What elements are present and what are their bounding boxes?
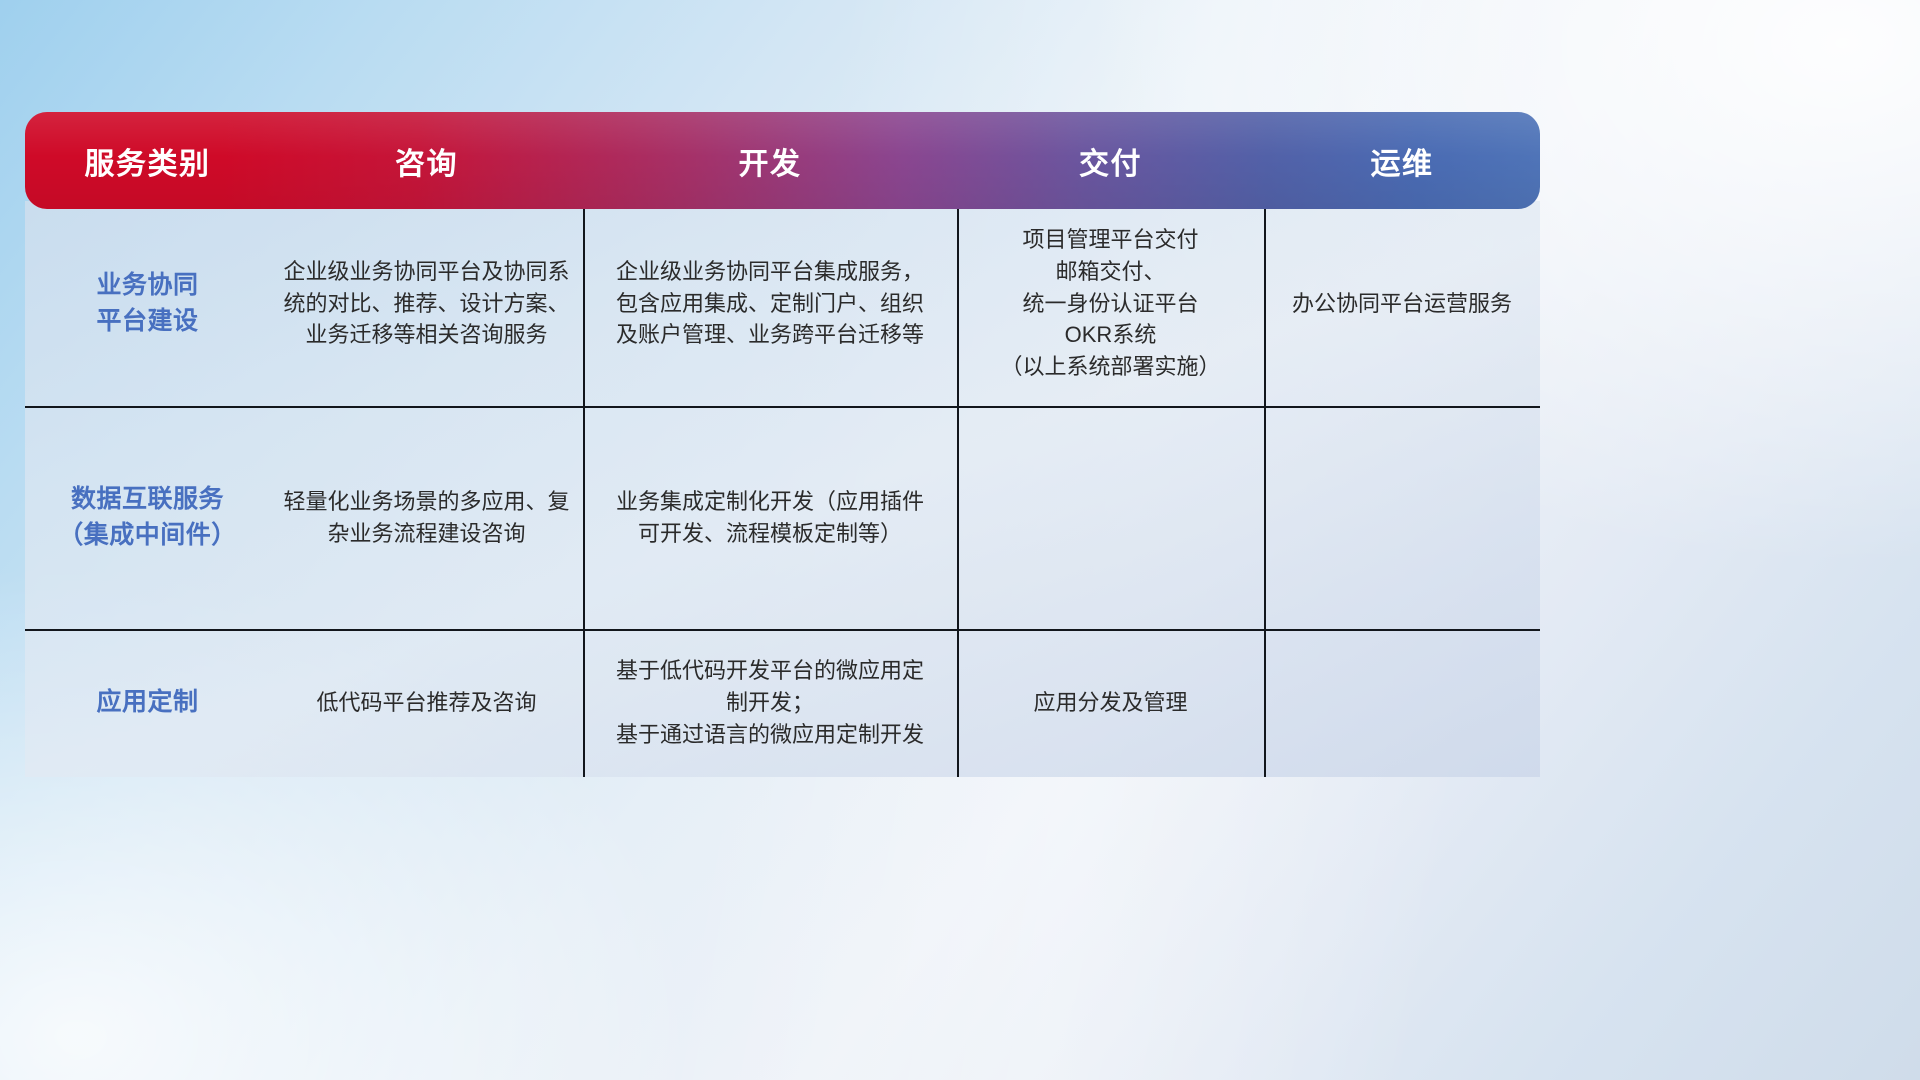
cell-text: 企业级业务协同平台集成服务， 包含应用集成、定制门户、组织 及账户管理、业务跨平…	[616, 256, 924, 352]
cell-development: 业务集成定制化开发（应用插件 可开发、流程模板定制等）	[583, 406, 957, 629]
cell-text: 低代码平台推荐及咨询	[316, 687, 536, 719]
cell-development: 基于低代码开发平台的微应用定 制开发； 基于通过语言的微应用定制开发	[583, 629, 957, 777]
table-header-cell-service-category: 服务类别	[25, 139, 270, 183]
cell-delivery	[957, 406, 1264, 629]
cell-text: 业务集成定制化开发（应用插件 可开发、流程模板定制等）	[616, 486, 924, 550]
row-label-cell: 应用定制	[25, 629, 270, 777]
cell-development: 企业级业务协同平台集成服务， 包含应用集成、定制门户、组织 及账户管理、业务跨平…	[583, 201, 957, 406]
cell-text: 基于低代码开发平台的微应用定 制开发； 基于通过语言的微应用定制开发	[616, 655, 924, 751]
table-row: 数据互联服务 （集成中间件） 轻量化业务场景的多应用、复 杂业务流程建设咨询 业…	[25, 406, 1540, 629]
row-label-text: 应用定制	[96, 685, 198, 721]
hrule-row1-row2	[25, 406, 1540, 408]
cell-delivery: 应用分发及管理	[957, 629, 1264, 777]
row-label-cell: 业务协同 平台建设	[25, 201, 270, 406]
table-header-row: 服务类别 咨询 开发 交付 运维	[25, 112, 1540, 209]
row-label-text: 数据互联服务 （集成中间件）	[58, 482, 237, 553]
hrule-row2-row3	[25, 629, 1540, 631]
cell-operations: 办公协同平台运营服务	[1264, 201, 1540, 406]
cell-text: 企业级业务协同平台及协同系 统的对比、推荐、设计方案、 业务迁移等相关咨询服务	[283, 256, 569, 352]
page-background: 服务类别 咨询 开发 交付 运维 业务协同 平台建设	[0, 0, 1920, 1080]
row-label-cell: 数据互联服务 （集成中间件）	[25, 406, 270, 629]
cell-consulting: 低代码平台推荐及咨询	[270, 629, 583, 777]
cell-text: 应用分发及管理	[1033, 687, 1187, 719]
table-header-cell-delivery: 交付	[957, 139, 1264, 183]
service-category-table: 服务类别 咨询 开发 交付 运维 业务协同 平台建设	[25, 112, 1540, 777]
cell-delivery: 项目管理平台交付 邮箱交付、 统一身份认证平台 OKR系统 （以上系统部署实施）	[957, 201, 1264, 406]
table-body: 业务协同 平台建设 企业级业务协同平台及协同系 统的对比、推荐、设计方案、 业务…	[25, 201, 1540, 777]
table-row: 业务协同 平台建设 企业级业务协同平台及协同系 统的对比、推荐、设计方案、 业务…	[25, 201, 1540, 406]
cell-text: 办公协同平台运营服务	[1292, 288, 1512, 320]
cell-operations	[1264, 406, 1540, 629]
table-header-cell-development: 开发	[583, 139, 957, 183]
cell-operations	[1264, 629, 1540, 777]
cell-consulting: 轻量化业务场景的多应用、复 杂业务流程建设咨询	[270, 406, 583, 629]
cell-consulting: 企业级业务协同平台及协同系 统的对比、推荐、设计方案、 业务迁移等相关咨询服务	[270, 201, 583, 406]
table-header-cell-consulting: 咨询	[270, 139, 583, 183]
cell-text: 项目管理平台交付 邮箱交付、 统一身份认证平台 OKR系统 （以上系统部署实施）	[1000, 224, 1220, 383]
table-row: 应用定制 低代码平台推荐及咨询 基于低代码开发平台的微应用定 制开发； 基于通过…	[25, 629, 1540, 777]
cell-text: 轻量化业务场景的多应用、复 杂业务流程建设咨询	[283, 486, 569, 550]
table-header-cell-operations: 运维	[1264, 139, 1540, 183]
row-label-text: 业务协同 平台建设	[96, 268, 198, 339]
